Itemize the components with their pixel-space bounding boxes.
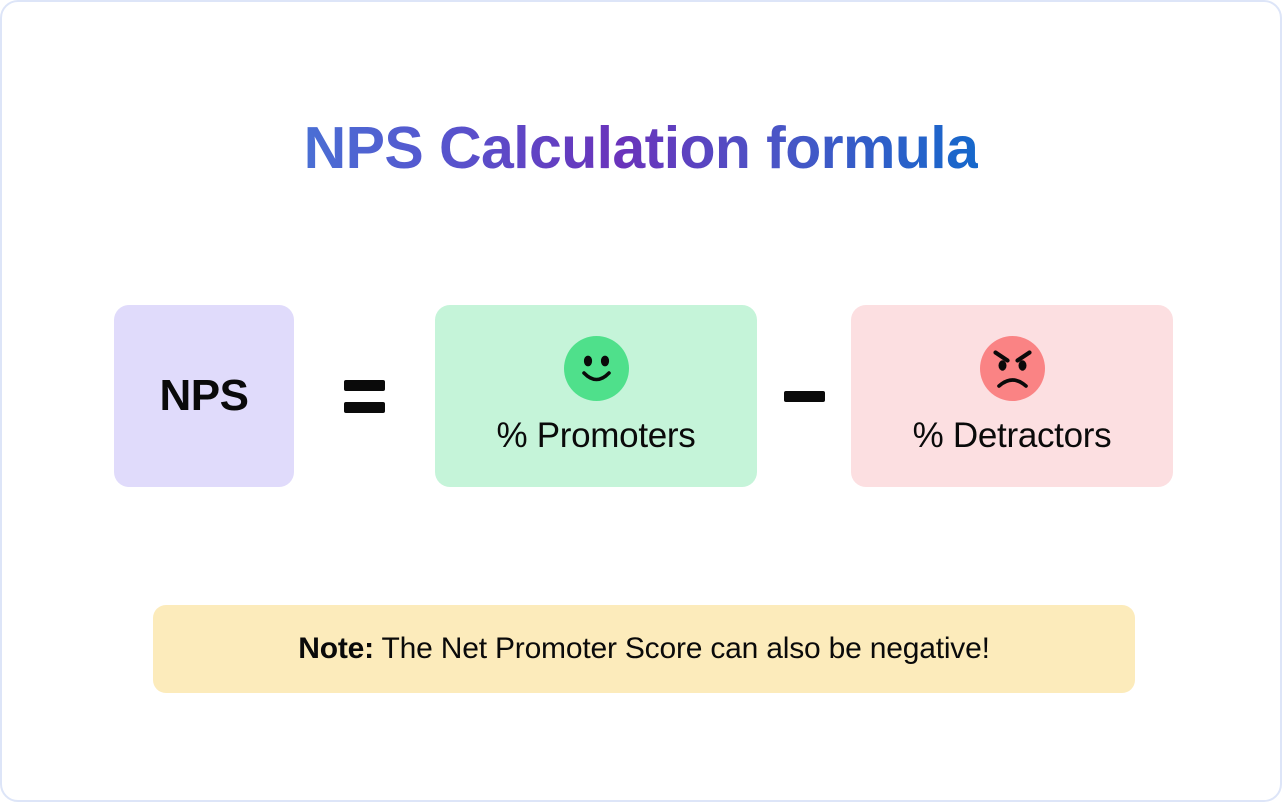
note-body: The Net Promoter Score can also be negat… — [374, 632, 990, 665]
page-title: NPS Calculation formula — [304, 118, 979, 180]
equals-operator-icon — [294, 380, 435, 413]
promoters-card-label: % Promoters — [497, 416, 696, 456]
detractors-card: % Detractors — [851, 305, 1173, 487]
angry-face-icon — [980, 336, 1045, 401]
nps-card-label: NPS — [160, 371, 249, 421]
smiling-face-icon — [564, 336, 629, 401]
nps-formula-row: NPS % Promoters — [114, 305, 1173, 487]
note-banner: Note: The Net Promoter Score can also be… — [153, 605, 1135, 693]
equals-bar-top — [344, 380, 385, 391]
card-frame: NPS Calculation formula NPS % Promoters — [0, 0, 1282, 802]
minus-operator-icon — [757, 391, 851, 402]
detractors-card-label: % Detractors — [913, 416, 1112, 456]
note-text: Note: The Net Promoter Score can also be… — [298, 632, 989, 666]
page-title-wrapper: NPS Calculation formula — [2, 118, 1280, 180]
promoters-card: % Promoters — [435, 305, 757, 487]
note-lead: Note: — [298, 632, 374, 665]
nps-card: NPS — [114, 305, 294, 487]
equals-bar-bottom — [344, 402, 385, 413]
minus-bar — [784, 391, 825, 402]
